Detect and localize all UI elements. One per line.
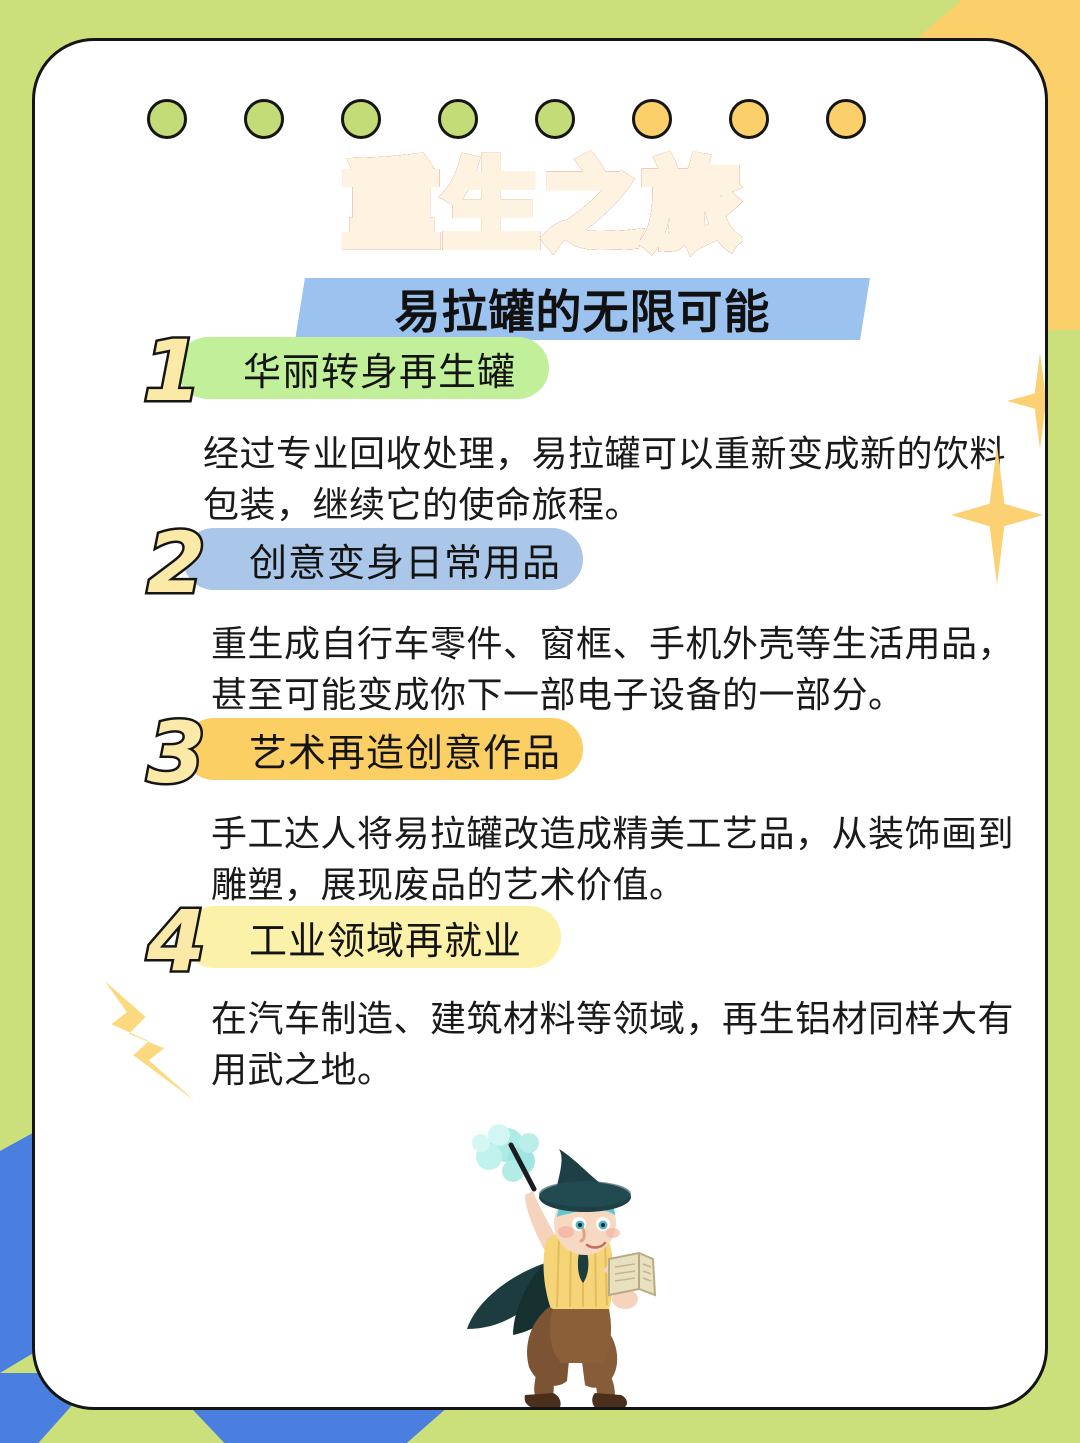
title-block: 重生之旅 重生之旅: [35, 153, 1048, 261]
punch-hole: [535, 99, 575, 139]
section-body-text: 经过专业回收处理，易拉罐可以重新变成新的饮料包装，继续它的使命旅程。: [203, 429, 1033, 531]
section-heading-pill: 艺术再造创意作品: [183, 718, 583, 780]
section-heading-pill: 创意变身日常用品: [183, 528, 583, 590]
punch-hole: [729, 99, 769, 139]
punch-hole: [244, 99, 284, 139]
section-heading-pill: 华丽转身再生罐: [177, 337, 549, 399]
section-body-text: 重生成自行车零件、窗框、手机外壳等生活用品，甚至可能变成你下一部电子设备的一部分…: [211, 619, 1041, 721]
wizard-illustration: [433, 1123, 703, 1410]
poster-canvas: 重生之旅 重生之旅 易拉罐的无限可能 华丽转身再生罐1经过专业回收处理，易拉罐可…: [0, 0, 1080, 1443]
section-heading-label: 创意变身日常用品: [249, 532, 561, 587]
punch-hole: [438, 99, 478, 139]
content-card: 重生之旅 重生之旅 易拉罐的无限可能 华丽转身再生罐1经过专业回收处理，易拉罐可…: [32, 38, 1048, 1410]
punch-hole-row: [35, 99, 1048, 143]
punch-hole: [826, 99, 866, 139]
punch-hole: [341, 99, 381, 139]
section-body-text: 手工达人将易拉罐改造成精美工艺品，从装饰画到雕塑，展现废品的艺术价值。: [211, 809, 1041, 911]
section-body-text: 在汽车制造、建筑材料等领域，再生铝材同样大有用武之地。: [211, 994, 1041, 1096]
punch-hole: [632, 99, 672, 139]
section-number: 4: [147, 899, 205, 983]
section-number: 3: [147, 711, 205, 795]
lightning-bolt-icon: [85, 981, 195, 1101]
section-heading-label: 工业领域再就业: [249, 910, 522, 965]
punch-hole: [147, 99, 187, 139]
section-number: 1: [143, 329, 201, 413]
section-heading-pill: 工业领域再就业: [183, 906, 561, 968]
section-number: 2: [147, 521, 205, 605]
page-subtitle: 易拉罐的无限可能: [300, 278, 865, 340]
section-heading-label: 艺术再造创意作品: [249, 722, 561, 777]
section-heading-label: 华丽转身再生罐: [243, 341, 516, 396]
page-title: 重生之旅: [343, 153, 743, 261]
